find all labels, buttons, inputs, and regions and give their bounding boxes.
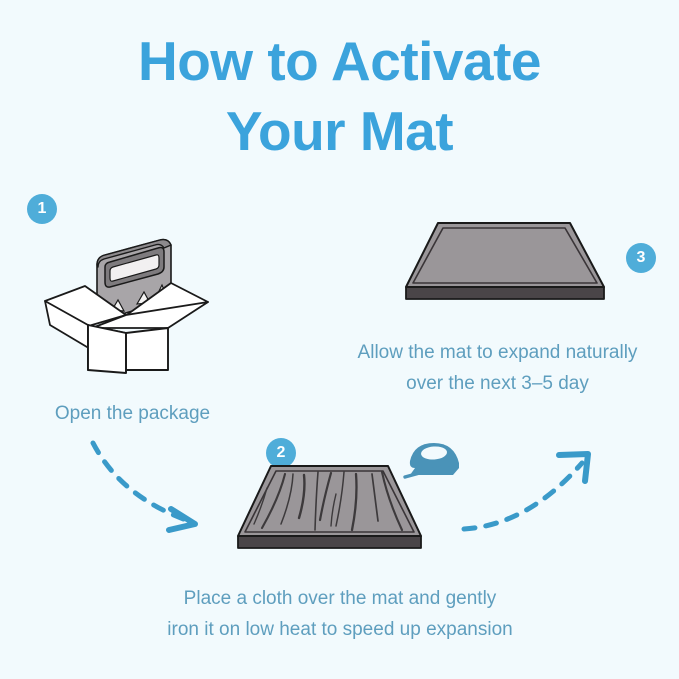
- page-title-line-1: How to Activate: [0, 26, 679, 96]
- step-caption-2: Place a cloth over the mat and gently ir…: [110, 583, 570, 645]
- page-title: How to Activate Your Mat: [0, 26, 679, 166]
- iron-icon: [398, 437, 464, 492]
- step-caption-3-line-1: Allow the mat to expand naturally: [315, 337, 679, 368]
- flat-mat-icon: [398, 215, 613, 320]
- dashed-arrow-up-right-icon: [458, 437, 603, 552]
- step-caption-2-line-1: Place a cloth over the mat and gently: [110, 583, 570, 614]
- step-caption-3-line-2: over the next 3–5 day: [315, 368, 679, 399]
- step-caption-2-line-2: iron it on low heat to speed up expansio…: [110, 614, 570, 645]
- step-caption-3: Allow the mat to expand naturally over t…: [315, 337, 679, 399]
- cardboard-box-icon: [40, 215, 215, 380]
- step-caption-1-line-1: Open the package: [0, 398, 265, 429]
- dashed-arrow-down-right-icon: [85, 435, 225, 545]
- infographic-canvas: How to Activate Your Mat 1: [0, 0, 679, 679]
- page-title-line-2: Your Mat: [0, 96, 679, 166]
- step-caption-1: Open the package: [0, 398, 265, 429]
- step-badge-3: 3: [626, 243, 656, 273]
